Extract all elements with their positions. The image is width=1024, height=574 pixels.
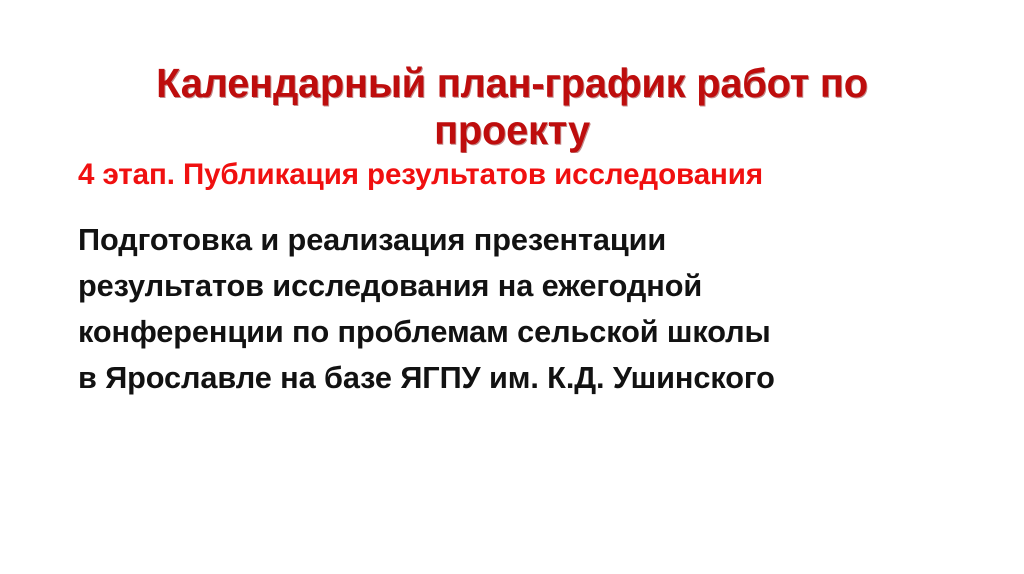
body-line: конференции по проблемам сельской школы (78, 309, 969, 355)
body-line: в Ярославле на базе ЯГПУ им. К.Д. Ушинск… (78, 355, 969, 401)
body-text: Подготовка и реализация презентации резу… (78, 217, 969, 401)
page-title: Календарный план-график работ по проекту (76, 60, 949, 154)
body-line: результатов исследования на ежегодной (78, 263, 969, 309)
stage-heading: 4 этап. Публикация результатов исследова… (78, 157, 955, 193)
body-line: Подготовка и реализация презентации (78, 217, 969, 263)
presentation-slide: Календарный план-график работ по проекту… (0, 0, 1024, 574)
